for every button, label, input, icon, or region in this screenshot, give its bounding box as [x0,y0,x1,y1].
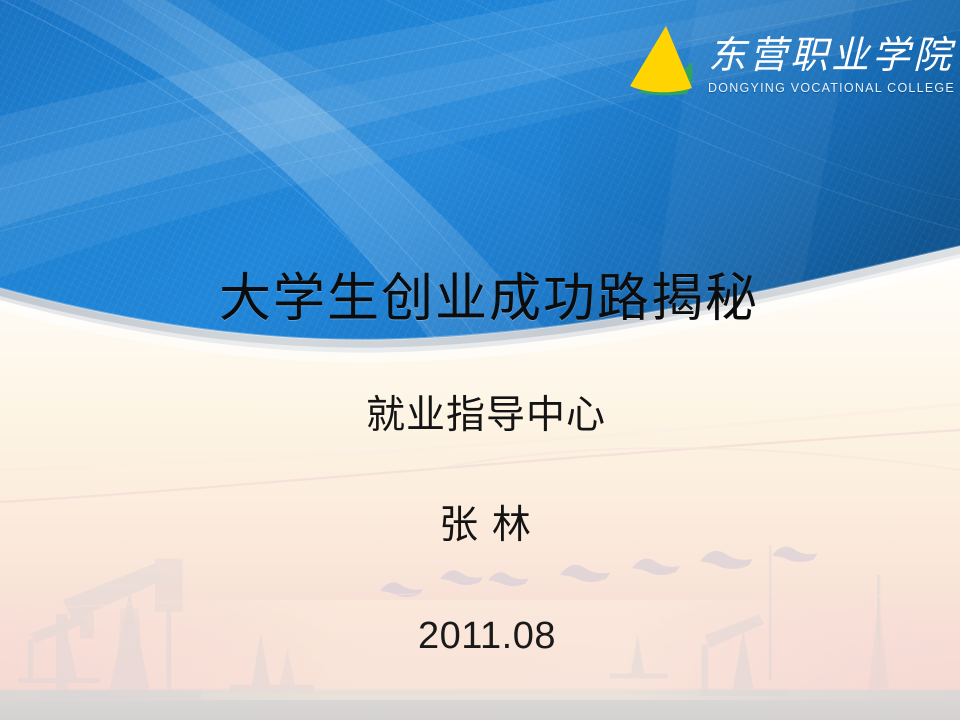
slide-organization: 就业指导中心 [0,393,960,439]
slide-title: 大学生创业成功路揭秘 [0,271,960,329]
logo-institution-en: DONGYING VOCATIONAL COLLEGE [708,81,956,95]
sail-triangle-logo-mark [622,22,698,102]
logo-institution-cn: 东营职业学院 [708,28,956,80]
slide-presenter: 张 林 [0,503,960,549]
slide-date: 2011.08 [0,613,960,659]
wave-highlight-sliver [0,0,960,720]
svg-text:东营职业学院: 东营职业学院 [708,35,956,77]
logo-text-wrap: 东营职业学院 DONGYING VOCATIONAL COLLEGE [708,22,956,95]
presentation-slide: 东营职业学院 DONGYING VOCATIONAL COLLEGE 大学生创业… [0,0,960,720]
institution-logo: 东营职业学院 DONGYING VOCATIONAL COLLEGE [622,22,952,108]
